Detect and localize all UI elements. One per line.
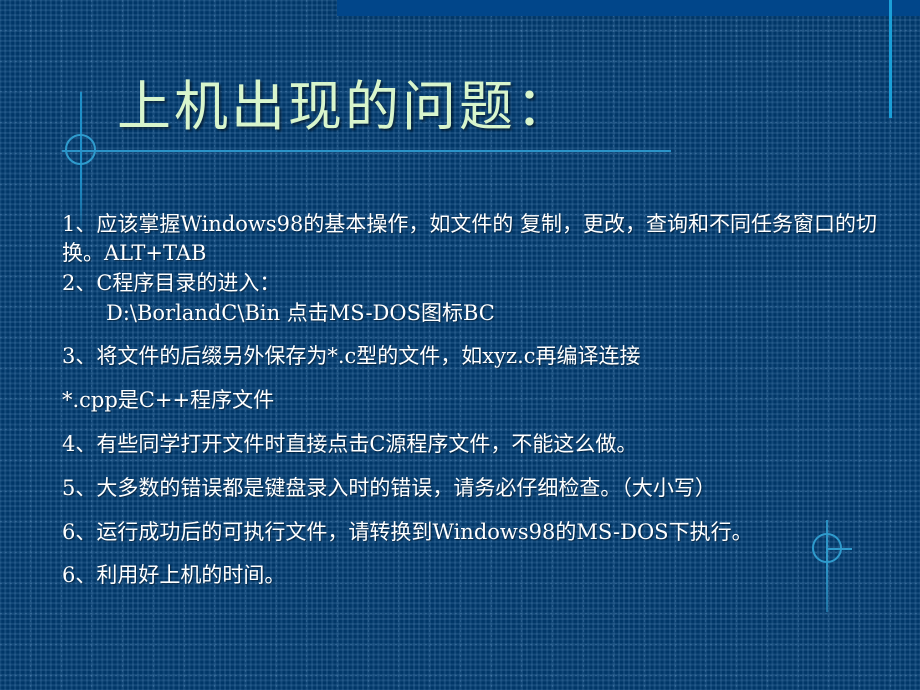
body-item-2: 2、C程序目录的进入： (62, 269, 892, 299)
body-item-7: 6、利用好上机的时间。 (62, 561, 892, 591)
body-item-4: 4、有些同学打开文件时直接点击C源程序文件，不能这么做。 (62, 430, 892, 460)
right-accent-horizontal-tick (826, 548, 852, 550)
top-banner-bar (337, 0, 920, 16)
body-item-6: 6、运行成功后的可执行文件，请转换到Windows98的MS-DOS下执行。 (62, 518, 892, 548)
body-item-3-sub: *.cpp是C++程序文件 (62, 386, 892, 416)
presentation-slide: 上机出现的问题： 1、应该掌握Windows98的基本操作，如文件的 复制，更改… (0, 0, 920, 690)
body-item-1: 1、应该掌握Windows98的基本操作，如文件的 复制，更改，查询和不同任务窗… (62, 210, 892, 269)
slide-body: 1、应该掌握Windows98的基本操作，如文件的 复制，更改，查询和不同任务窗… (62, 210, 892, 591)
slide-title: 上机出现的问题： (0, 78, 690, 136)
body-item-3: 3、将文件的后缀另外保存为*.c型的文件，如xyz.c再编译连接 (62, 342, 892, 372)
top-right-accent-line (889, 0, 892, 118)
body-item-5: 5、大多数的错误都是键盘录入时的错误，请务必仔细检查。（大小写） (62, 474, 892, 504)
body-item-2-sub: D:\BorlandC\Bin 点击MS-DOS图标BC (62, 299, 892, 329)
title-underline-rule (62, 150, 671, 152)
